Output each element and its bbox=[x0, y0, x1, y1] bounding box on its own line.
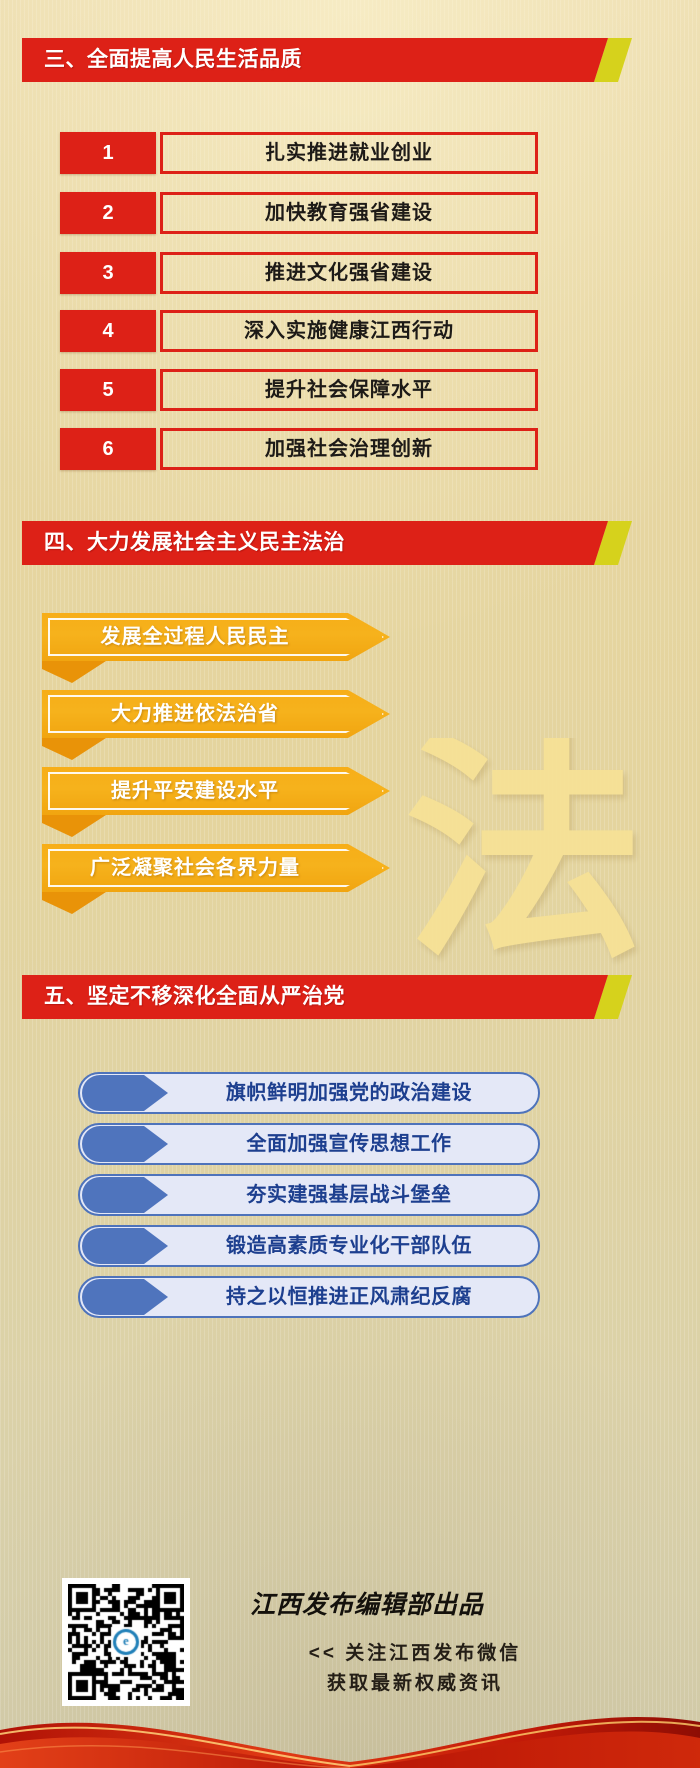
numbered-row[interactable]: 1 扎实推进就业创业 bbox=[60, 132, 538, 174]
row-number-box: 2 bbox=[60, 192, 156, 234]
row-number: 6 bbox=[60, 428, 156, 470]
numbered-row[interactable]: 4 深入实施健康江西行动 bbox=[60, 310, 538, 352]
arrow-banner[interactable]: 大力推进依法治省 bbox=[42, 690, 390, 738]
footer-cta-line-1: << 关注江西发布微信 bbox=[230, 1638, 600, 1665]
section-header-five: 五、坚定不移深化全面从严治党 bbox=[22, 975, 632, 1019]
section-five-title: 五、坚定不移深化全面从严治党 bbox=[44, 975, 345, 1019]
row-number: 4 bbox=[60, 310, 156, 352]
arrow-banner[interactable]: 广泛凝聚社会各界力量 bbox=[42, 844, 390, 892]
section-three-title: 三、全面提高人民生活品质 bbox=[44, 38, 302, 82]
arrow-fold-tab bbox=[42, 815, 106, 837]
row-label: 扎实推进就业创业 bbox=[163, 135, 535, 171]
blue-pill-item[interactable]: 锻造高素质专业化干部队伍 bbox=[78, 1225, 540, 1267]
row-label-bar: 加强社会治理创新 bbox=[160, 428, 538, 470]
row-label: 推进文化强省建设 bbox=[163, 255, 535, 291]
section-header-four: 四、大力发展社会主义民主法治 bbox=[22, 521, 632, 565]
row-label: 深入实施健康江西行动 bbox=[163, 313, 535, 349]
arrow-fold-tab bbox=[42, 738, 106, 760]
pill-label: 夯实建强基层战斗堡垒 bbox=[164, 1174, 534, 1216]
ribbon-svg bbox=[0, 1682, 700, 1768]
arrow-label: 广泛凝聚社会各界力量 bbox=[42, 844, 348, 892]
publisher-brand: 江西发布编辑部出品 bbox=[250, 1588, 590, 1622]
section-four-title: 四、大力发展社会主义民主法治 bbox=[44, 521, 345, 565]
row-label: 加强社会治理创新 bbox=[163, 431, 535, 467]
row-label: 提升社会保障水平 bbox=[163, 372, 535, 408]
row-number: 2 bbox=[60, 192, 156, 234]
row-number: 5 bbox=[60, 369, 156, 411]
pill-label: 锻造高素质专业化干部队伍 bbox=[164, 1225, 534, 1267]
row-number-box: 4 bbox=[60, 310, 156, 352]
row-label-bar: 深入实施健康江西行动 bbox=[160, 310, 538, 352]
row-number-box: 6 bbox=[60, 428, 156, 470]
blue-pill-item[interactable]: 持之以恒推进正风肃纪反腐 bbox=[78, 1276, 540, 1318]
row-number: 1 bbox=[60, 132, 156, 174]
blue-pill-item[interactable]: 全面加强宣传思想工作 bbox=[78, 1123, 540, 1165]
blue-pill-item[interactable]: 夯实建强基层战斗堡垒 bbox=[78, 1174, 540, 1216]
bottom-red-ribbon bbox=[0, 1682, 700, 1768]
numbered-row[interactable]: 3 推进文化强省建设 bbox=[60, 252, 538, 294]
arrow-label: 发展全过程人民民主 bbox=[42, 613, 348, 661]
row-number-box: 3 bbox=[60, 252, 156, 294]
row-label-bar: 扎实推进就业创业 bbox=[160, 132, 538, 174]
arrow-fold-tab bbox=[42, 892, 106, 914]
numbered-row[interactable]: 6 加强社会治理创新 bbox=[60, 428, 538, 470]
row-number-box: 1 bbox=[60, 132, 156, 174]
pill-label: 旗帜鲜明加强党的政治建设 bbox=[164, 1072, 534, 1114]
infographic-page: 三、全面提高人民生活品质 1 扎实推进就业创业 2 加快教育强省建设 3 推进文… bbox=[0, 0, 700, 1768]
row-label-bar: 推进文化强省建设 bbox=[160, 252, 538, 294]
row-label: 加快教育强省建设 bbox=[163, 195, 535, 231]
row-label-bar: 提升社会保障水平 bbox=[160, 369, 538, 411]
arrow-banner[interactable]: 提升平安建设水平 bbox=[42, 767, 390, 815]
row-label-bar: 加快教育强省建设 bbox=[160, 192, 538, 234]
blue-pill-item[interactable]: 旗帜鲜明加强党的政治建设 bbox=[78, 1072, 540, 1114]
pill-label: 持之以恒推进正风肃纪反腐 bbox=[164, 1276, 534, 1318]
arrow-label: 提升平安建设水平 bbox=[42, 767, 348, 815]
numbered-row[interactable]: 2 加快教育强省建设 bbox=[60, 192, 538, 234]
section-header-three: 三、全面提高人民生活品质 bbox=[22, 38, 632, 82]
row-number-box: 5 bbox=[60, 369, 156, 411]
arrow-fold-tab bbox=[42, 661, 106, 683]
pill-label: 全面加强宣传思想工作 bbox=[164, 1123, 534, 1165]
numbered-row[interactable]: 5 提升社会保障水平 bbox=[60, 369, 538, 411]
arrow-banner[interactable]: 发展全过程人民民主 bbox=[42, 613, 390, 661]
row-number: 3 bbox=[60, 252, 156, 294]
arrow-label: 大力推进依法治省 bbox=[42, 690, 348, 738]
